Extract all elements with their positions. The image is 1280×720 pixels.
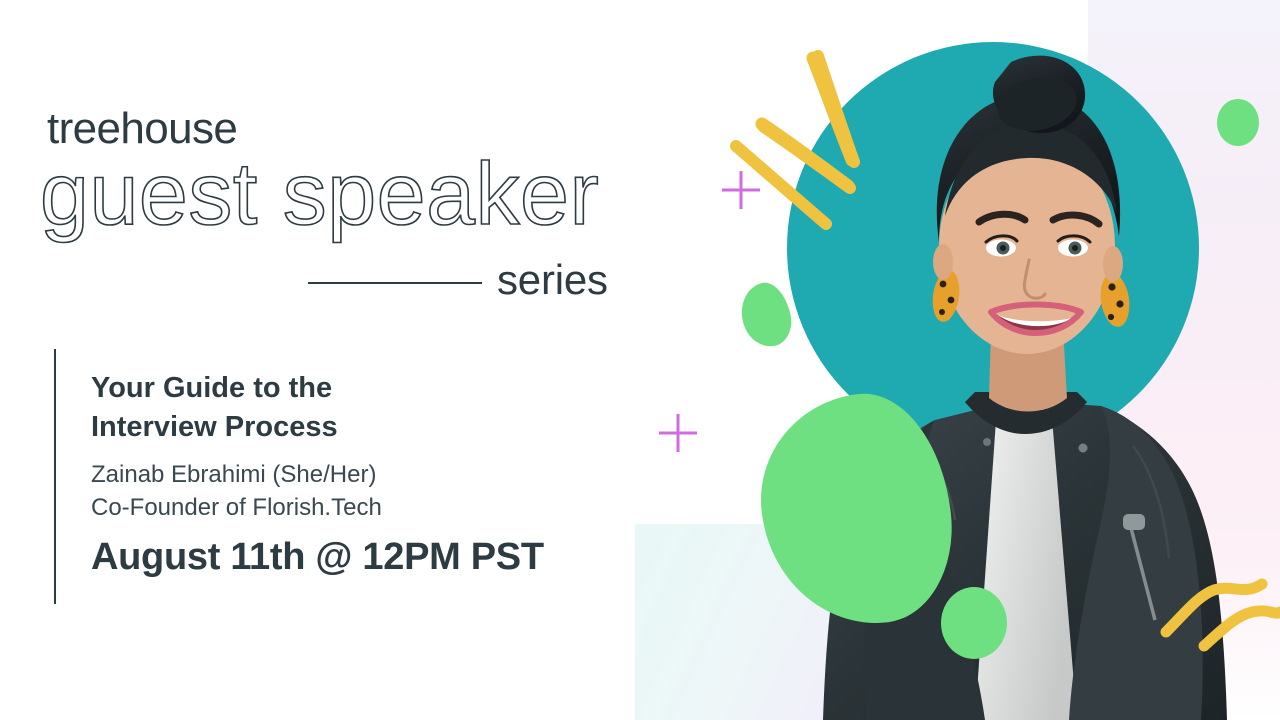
talk-title-line-1: Your Guide to the [91, 369, 521, 408]
promo-banner: treehouse guest speaker series Your Guid… [0, 0, 1280, 720]
headline-guest-speaker: guest speaker [40, 150, 599, 238]
speaker-role: Co-Founder of Florish.Tech [91, 494, 382, 522]
talk-title-line-2: Interview Process [91, 408, 521, 447]
series-label: series [497, 256, 608, 304]
detail-block-divider [54, 349, 56, 604]
series-divider-rule [308, 282, 482, 284]
event-datetime: August 11th @ 12PM PST [91, 536, 544, 579]
green-dot-bottom [941, 587, 1007, 659]
talk-title: Your Guide to the Interview Process [91, 369, 521, 446]
green-blob-small [735, 278, 797, 352]
speaker-name: Zainab Ebrahimi (She/Her) [91, 461, 376, 489]
